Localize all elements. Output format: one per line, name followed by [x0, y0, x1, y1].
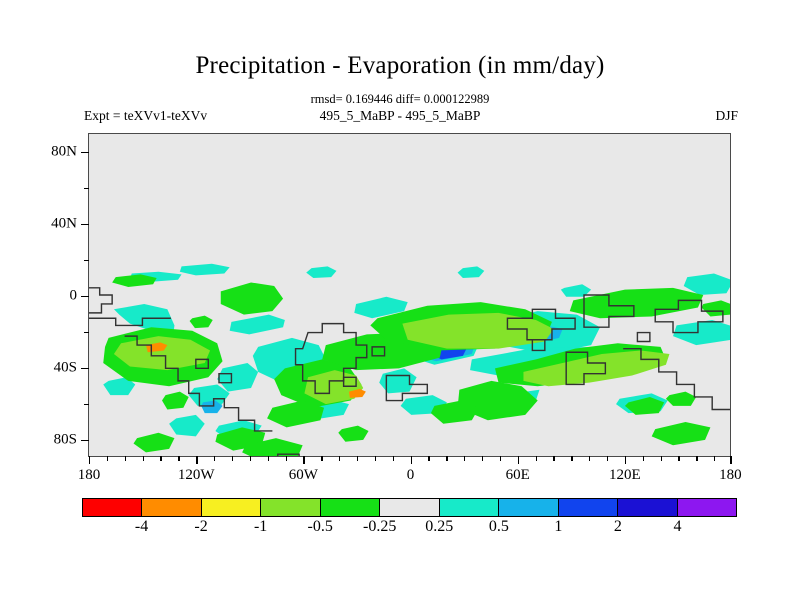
colorbar-label-4: -0.25: [363, 518, 396, 536]
xtick-60E: [518, 456, 519, 464]
xtick-minor: [214, 456, 215, 461]
colorbar-segment-4: [320, 499, 379, 516]
xtick-minor: [339, 456, 340, 461]
colorbar-label-9: 4: [673, 518, 681, 536]
xtick-minor: [107, 456, 108, 461]
colorbar-label-2: -1: [254, 518, 267, 536]
xtick-minor: [571, 456, 572, 461]
xtick-minor: [661, 456, 662, 461]
colorbar-label-7: 1: [554, 518, 562, 536]
xlabel-120E: 120E: [609, 467, 641, 484]
ytick-40N: [81, 224, 89, 225]
colorbar-label-1: -2: [194, 518, 207, 536]
ylabel-80N: 80N: [51, 144, 77, 161]
xtick-120W: [196, 456, 197, 464]
xlabel-0: 0: [407, 467, 415, 484]
xtick-minor: [714, 456, 715, 461]
ytick-minor-20N: [84, 260, 89, 261]
ytick-80S: [81, 440, 89, 441]
xtick-minor: [428, 456, 429, 461]
xtick-120E: [625, 456, 626, 464]
ylabel-80S: 80S: [54, 432, 77, 449]
xlabel-60W: 60W: [289, 467, 318, 484]
xtick-60W: [303, 456, 304, 464]
colorbar-segment-3: [260, 499, 319, 516]
xtick-minor: [125, 456, 126, 461]
ytick-minor-60S: [84, 404, 89, 405]
ytick-40S: [81, 368, 89, 369]
xtick-minor: [375, 456, 376, 461]
colorbar-segment-9: [617, 499, 676, 516]
ytick-minor-20S: [84, 332, 89, 333]
colorbar: [82, 498, 737, 517]
colorbar-segment-5: [379, 499, 438, 516]
xtick-minor: [696, 456, 697, 461]
xtick-minor: [500, 456, 501, 461]
xtick-minor: [607, 456, 608, 461]
colorbar-segment-8: [558, 499, 617, 516]
colorbar-segment-6: [439, 499, 498, 516]
colorbar-segment-0: [83, 499, 141, 516]
xtick-minor: [178, 456, 179, 461]
colorbar-segment-2: [201, 499, 260, 516]
xtick-0: [411, 456, 412, 464]
xtick-minor: [536, 456, 537, 461]
colorbar-segment-7: [498, 499, 557, 516]
colorbar-label-3: -0.5: [308, 518, 333, 536]
xtick-minor: [678, 456, 679, 461]
colorbar-segment-1: [141, 499, 200, 516]
ylabel-40S: 40S: [54, 360, 77, 377]
xtick-minor: [160, 456, 161, 461]
xtick-minor: [357, 456, 358, 461]
xlabel-180E: 180: [719, 467, 742, 484]
xtick-minor: [232, 456, 233, 461]
header-case: 495_5_MaBP - 495_5_MaBP: [0, 108, 800, 124]
ytick-0: [81, 296, 89, 297]
colorbar-segment-10: [677, 499, 736, 516]
colorbar-labels: -4-2-1-0.5-0.250.250.5124: [82, 518, 737, 540]
xtick-minor: [464, 456, 465, 461]
header-season: DJF: [715, 108, 738, 124]
xtick-minor: [446, 456, 447, 461]
ylabel-0: 0: [70, 288, 78, 305]
ylabel-40N: 40N: [51, 216, 77, 233]
xtick-minor: [553, 456, 554, 461]
xtick-180W: [89, 456, 90, 464]
colorbar-label-0: -4: [135, 518, 148, 536]
xtick-minor: [321, 456, 322, 461]
xlabel-60E: 60E: [506, 467, 530, 484]
stats-line: rmsd= 0.169446 diff= 0.000122989: [0, 92, 800, 107]
xtick-minor: [268, 456, 269, 461]
ytick-80N: [81, 152, 89, 153]
colorbar-label-6: 0.5: [489, 518, 509, 536]
colorbar-label-8: 2: [614, 518, 622, 536]
xtick-minor: [643, 456, 644, 461]
page-title: Precipitation - Evaporation (in mm/day): [0, 52, 800, 80]
colorbar-label-5: 0.25: [425, 518, 453, 536]
ytick-minor-60N: [84, 188, 89, 189]
xtick-minor: [286, 456, 287, 461]
map-plot-area: 80N 40N 0 40S 80S 180 120W 60W 0 60E 120…: [88, 133, 731, 457]
xtick-minor: [143, 456, 144, 461]
xlabel-120W: 120W: [178, 467, 215, 484]
xtick-minor: [482, 456, 483, 461]
xlabel-180W: 180: [78, 467, 101, 484]
xtick-180E: [730, 456, 731, 464]
xtick-minor: [250, 456, 251, 461]
xtick-minor: [589, 456, 590, 461]
xtick-minor: [393, 456, 394, 461]
map-canvas: [89, 134, 730, 456]
